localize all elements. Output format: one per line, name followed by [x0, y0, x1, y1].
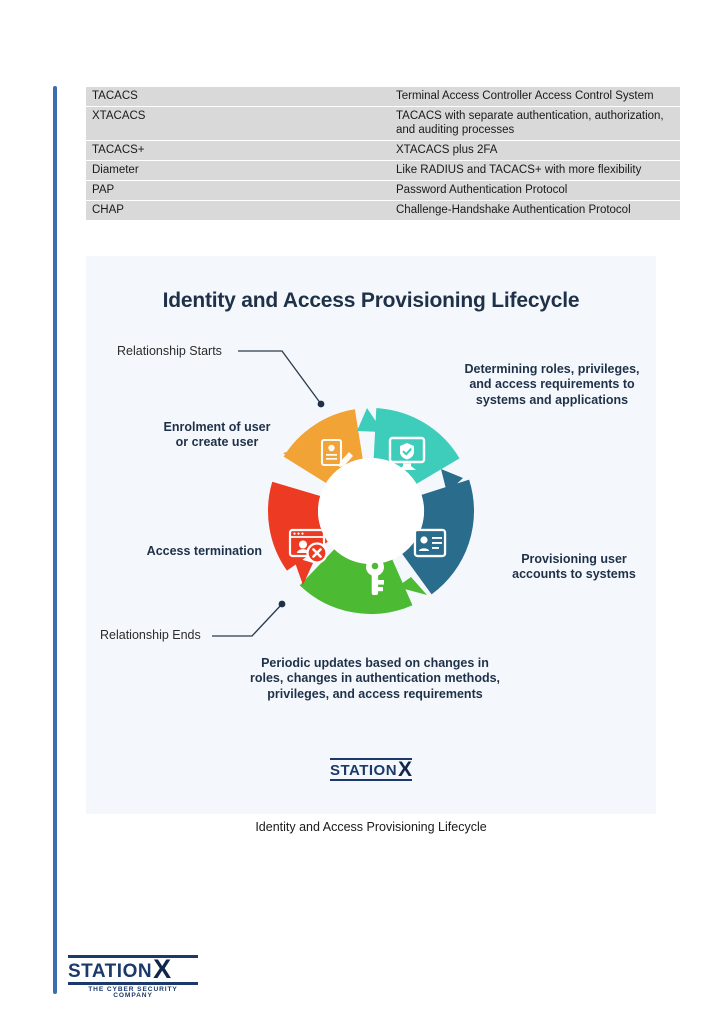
table-cell-term: TACACS+ — [86, 141, 390, 160]
stationx-logo-infographic: STATION X — [86, 758, 656, 781]
table-cell-term: XTACACS — [86, 107, 390, 140]
table-cell-definition: Like RADIUS and TACACS+ with more flexib… — [390, 161, 680, 180]
authentication-protocols-table: TACACSTerminal Access Controller Access … — [86, 86, 656, 221]
annotation-relationship-ends: Relationship Ends — [100, 628, 201, 642]
stationx-logo-footer: STATION X THE CYBER SECURITY COMPANY — [68, 955, 198, 1000]
label-enrolment-line2: or create user — [176, 435, 259, 449]
table-row: PAPPassword Authentication Protocol — [86, 181, 680, 200]
brand-mark-x: X — [398, 761, 412, 778]
table-cell-term: Diameter — [86, 161, 390, 180]
table-row: TACACSTerminal Access Controller Access … — [86, 87, 680, 106]
table-cell-definition: TACACS with separate authentication, aut… — [390, 107, 680, 140]
label-periodic: Periodic updates based on changes in rol… — [244, 656, 506, 702]
table-row: CHAPChallenge-Handshake Authentication P… — [86, 201, 680, 220]
table-cell-term: PAP — [86, 181, 390, 200]
table-row: DiameterLike RADIUS and TACACS+ with mor… — [86, 161, 680, 180]
label-determining: Determining roles, privileges, and acces… — [456, 362, 648, 408]
annotation-relationship-starts: Relationship Starts — [117, 344, 222, 358]
segment-periodic[interactable] — [317, 567, 402, 589]
label-enrolment-line1: Enrolment of user — [164, 420, 271, 434]
table-cell-definition: Password Authentication Protocol — [390, 181, 680, 200]
footer-brand-word: STATION — [68, 961, 152, 982]
table-cell-definition: XTACACS plus 2FA — [390, 141, 680, 160]
table-row: XTACACSTACACS with separate authenticati… — [86, 107, 680, 140]
brand-word: STATION — [330, 762, 397, 779]
label-enrolment: Enrolment of user or create user — [144, 420, 290, 451]
table-cell-definition: Challenge-Handshake Authentication Proto… — [390, 201, 680, 220]
infographic-title: Identity and Access Provisioning Lifecyc… — [86, 289, 656, 313]
left-accent-bar — [53, 86, 57, 994]
footer-brand-tagline: THE CYBER SECURITY COMPANY — [68, 987, 198, 1000]
footer-brand-mark-x: X — [153, 959, 171, 981]
table-cell-term: TACACS — [86, 87, 390, 106]
table-cell-term: CHAP — [86, 201, 390, 220]
label-provisioning: Provisioning user accounts to systems — [498, 552, 650, 583]
label-access-termination: Access termination — [102, 544, 262, 559]
table-cell-definition: Terminal Access Controller Access Contro… — [390, 87, 680, 106]
identity-access-lifecycle-infographic: Identity and Access Provisioning Lifecyc… — [86, 256, 656, 814]
table-row: TACACS+XTACACS plus 2FA — [86, 141, 680, 160]
infographic-caption: Identity and Access Provisioning Lifecyc… — [86, 820, 656, 834]
